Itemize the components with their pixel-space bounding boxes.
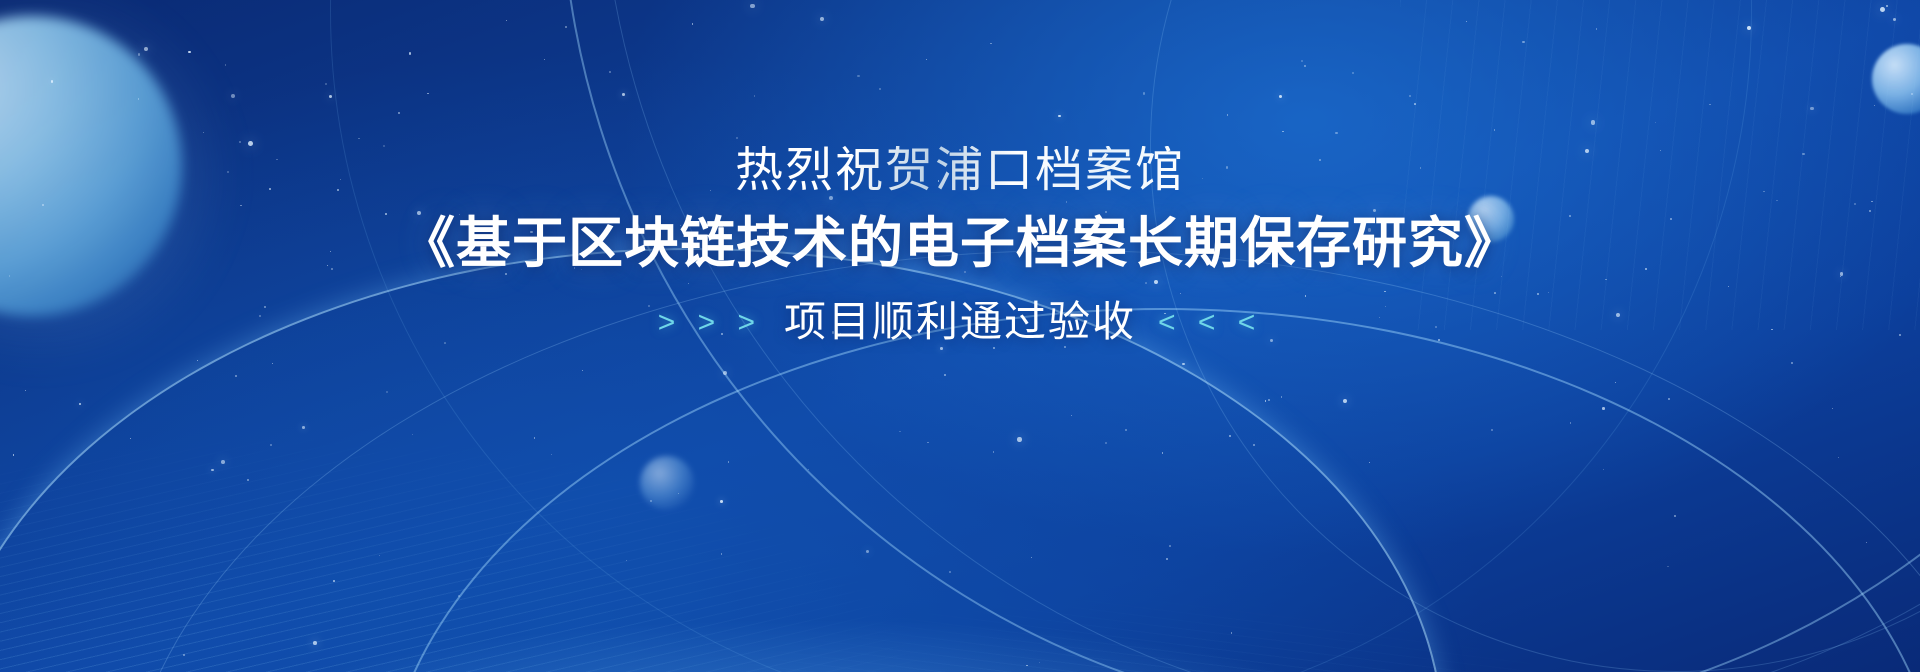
headline-block: 热烈祝贺浦口档案馆 《基于区块链技术的电子档案长期保存研究》 > > > 项目顺… — [0, 0, 1920, 672]
headline-line-2: 《基于区块链技术的电子档案长期保存研究》 — [400, 213, 1520, 274]
headline-line-3: 项目顺利通过验收 — [780, 299, 1140, 345]
headline-line-3-row: > > > 项目顺利通过验收 < < < — [658, 299, 1262, 345]
headline-line-1: 热烈祝贺浦口档案馆 — [735, 146, 1185, 197]
celebration-banner: 热烈祝贺浦口档案馆 《基于区块链技术的电子档案长期保存研究》 > > > 项目顺… — [0, 0, 1920, 672]
chevron-left-icon: < < < — [1158, 306, 1262, 339]
chevron-right-icon: > > > — [658, 306, 762, 339]
